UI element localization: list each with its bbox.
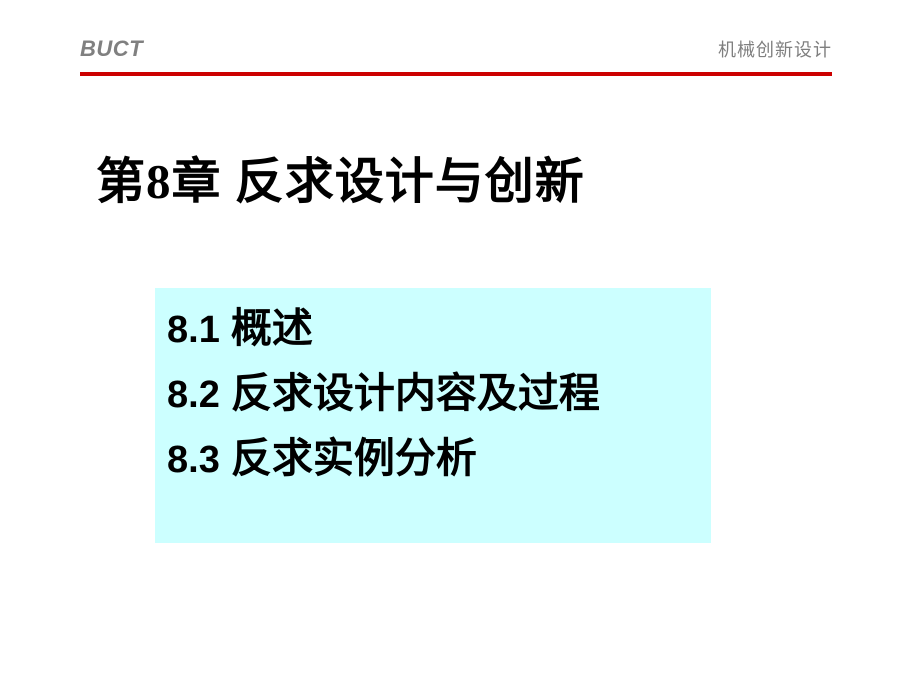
agenda-item-number: 8.1 [167, 309, 220, 351]
presentation-slide: BUCT 机械创新设计 第8章 反求设计与创新 8.1概述 8.2反求设计内容及… [0, 0, 920, 690]
agenda-item-label: 反求实例分析 [231, 435, 477, 481]
agenda-item-label: 反求设计内容及过程 [231, 370, 600, 416]
list-item: 8.2反求设计内容及过程 [167, 362, 711, 427]
list-item: 8.1概述 [167, 297, 711, 362]
header-divider-rule [80, 72, 832, 76]
agenda-item-number: 8.2 [167, 374, 220, 416]
agenda-item-label: 概述 [231, 305, 313, 351]
brand-logo: BUCT [80, 36, 143, 62]
header-subject-label: 机械创新设计 [718, 39, 832, 61]
slide-header: BUCT 机械创新设计 [80, 36, 832, 76]
list-item: 8.3反求实例分析 [167, 427, 711, 492]
page-title: 第8章 反求设计与创新 [96, 152, 585, 212]
agenda-box: 8.1概述 8.2反求设计内容及过程 8.3反求实例分析 [155, 288, 711, 543]
agenda-item-number: 8.3 [167, 439, 220, 481]
